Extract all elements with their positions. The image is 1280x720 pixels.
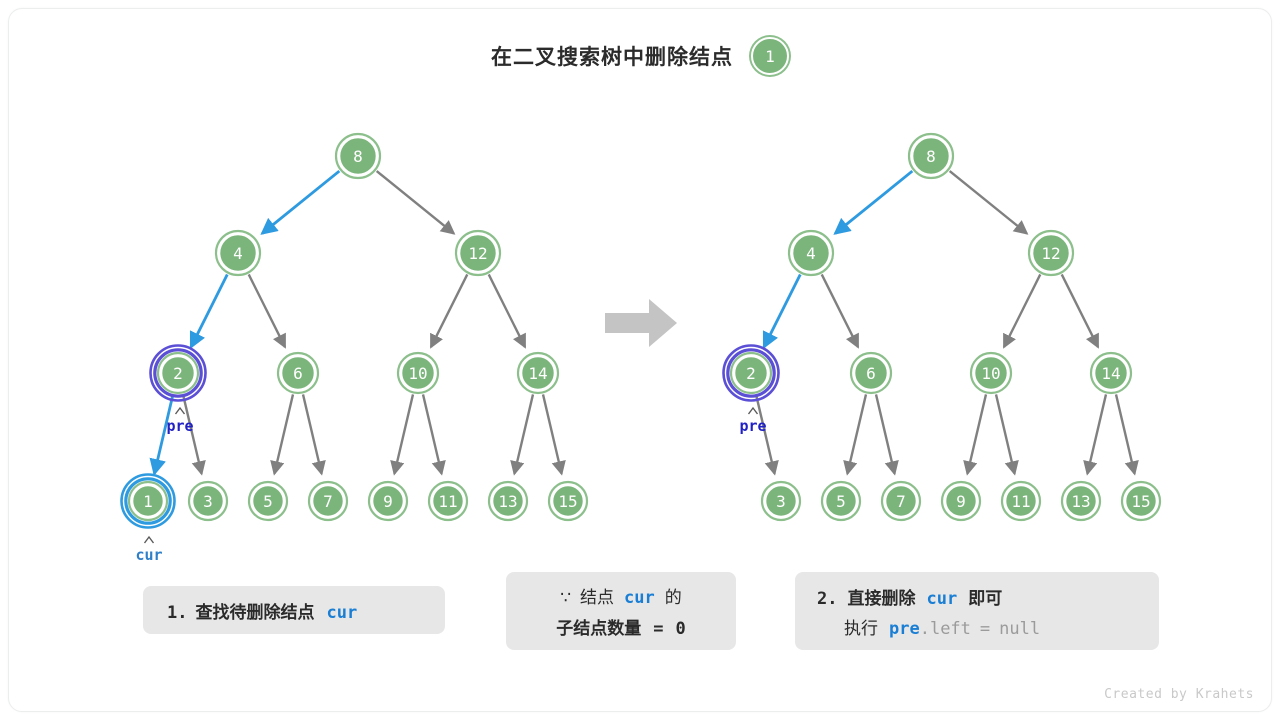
tree-edge-l10-l11 xyxy=(423,394,442,473)
tree-edge-r6-r7 xyxy=(876,394,895,473)
right-arrow-icon xyxy=(605,299,677,347)
tree-edge-r8-r12 xyxy=(950,171,1027,233)
tree-node-14[interactable]: 14 xyxy=(518,353,558,393)
tree-node-10[interactable]: 10 xyxy=(398,353,438,393)
caption-exec-equals: = xyxy=(980,619,990,639)
tree-node-label: 10 xyxy=(981,364,1000,383)
tree-edge-r4-r6 xyxy=(822,274,858,347)
tree-edge-r8-r4 xyxy=(835,171,912,233)
tree-edge-l14-l13 xyxy=(514,394,533,473)
caption-condition-text-1: 结点 xyxy=(580,583,614,608)
tree-node-11[interactable]: 11 xyxy=(1002,482,1040,520)
tree-edge-l10-l9 xyxy=(394,394,413,473)
caption-equals-sign: = xyxy=(653,619,663,639)
caption-child-count-label: 子结点数量 xyxy=(556,614,641,639)
caption-exec-var: pre xyxy=(889,619,920,639)
tree-edge-r10-r11 xyxy=(996,394,1015,473)
tree-node-label: 9 xyxy=(383,492,393,511)
right-tree-nodes: 84122610143579111315 xyxy=(724,134,1161,520)
caption-step-2-line-2: 执行 pre .left = null xyxy=(817,614,1159,639)
tree-edge-r14-r13 xyxy=(1087,394,1106,473)
tree-node-label: 8 xyxy=(353,147,363,166)
tree-node-6[interactable]: 6 xyxy=(851,353,891,393)
caption-step-2: 2. 直接删除 cur 即可 执行 pre .left = null xyxy=(795,572,1159,650)
caption-exec-label: 执行 xyxy=(844,614,878,639)
caption-step-1-line: 1. 查找待删除结点 cur xyxy=(167,598,445,623)
tree-node-label: 4 xyxy=(806,244,816,263)
tree-node-label: 8 xyxy=(926,147,936,166)
tree-edge-l8-l12 xyxy=(377,171,454,233)
caption-step-2-number: 2. xyxy=(817,589,837,609)
pointer-label-cur: cur xyxy=(135,537,162,564)
tree-node-label: 1 xyxy=(143,492,153,511)
caption-condition-text-2: 的 xyxy=(665,583,682,608)
pointer-name-text: pre xyxy=(166,417,193,435)
right-tree-edges xyxy=(756,171,1135,474)
tree-node-5[interactable]: 5 xyxy=(249,482,287,520)
tree-node-8[interactable]: 8 xyxy=(909,134,953,178)
tree-node-label: 14 xyxy=(528,364,547,383)
tree-node-13[interactable]: 13 xyxy=(489,482,527,520)
tree-node-label: 12 xyxy=(468,244,487,263)
diagram-canvas: 在二叉搜索树中删除结点 1 841226101413579111315 8412… xyxy=(0,0,1280,720)
tree-node-14[interactable]: 14 xyxy=(1091,353,1131,393)
tree-node-label: 3 xyxy=(203,492,213,511)
tree-node-11[interactable]: 11 xyxy=(429,482,467,520)
transition-arrow xyxy=(605,299,677,347)
caption-condition-code: cur xyxy=(624,588,655,608)
tree-node-3[interactable]: 3 xyxy=(762,482,800,520)
tree-node-13[interactable]: 13 xyxy=(1062,482,1100,520)
tree-edge-r6-r5 xyxy=(847,394,866,473)
tree-node-label: 13 xyxy=(1071,492,1090,511)
caption-step-1-number: 1. xyxy=(167,603,187,623)
tree-node-9[interactable]: 9 xyxy=(942,482,980,520)
tree-node-8[interactable]: 8 xyxy=(336,134,380,178)
caption-condition-line-2: 子结点数量 = 0 xyxy=(556,614,686,639)
tree-node-label: 2 xyxy=(173,364,183,383)
tree-node-5[interactable]: 5 xyxy=(822,482,860,520)
tree-node-15[interactable]: 15 xyxy=(549,482,587,520)
tree-edge-l6-l5 xyxy=(274,394,293,473)
caption-step-1: 1. 查找待删除结点 cur xyxy=(143,586,445,634)
tree-node-label: 15 xyxy=(558,492,577,511)
because-symbol: ∵ xyxy=(560,588,571,608)
tree-node-7[interactable]: 7 xyxy=(309,482,347,520)
tree-edge-l6-l7 xyxy=(303,394,322,473)
tree-node-7[interactable]: 7 xyxy=(882,482,920,520)
tree-node-label: 7 xyxy=(896,492,906,511)
caption-step-2-tail: 即可 xyxy=(968,584,1002,609)
tree-edge-l4-l6 xyxy=(249,274,285,347)
tree-edge-r14-r15 xyxy=(1116,394,1135,473)
footer-credit: Created by Krahets xyxy=(1104,687,1254,702)
caret-up-icon xyxy=(145,537,154,543)
tree-node-12[interactable]: 12 xyxy=(1029,231,1073,275)
caption-condition: ∵ 结点 cur 的 子结点数量 = 0 xyxy=(506,572,736,650)
tree-node-label: 3 xyxy=(776,492,786,511)
tree-node-10[interactable]: 10 xyxy=(971,353,1011,393)
pointer-name-text: pre xyxy=(739,417,766,435)
caret-up-icon xyxy=(749,408,758,414)
caret-up-icon xyxy=(176,408,185,414)
tree-node-label: 11 xyxy=(438,492,457,511)
tree-node-label: 13 xyxy=(498,492,517,511)
tree-node-3[interactable]: 3 xyxy=(189,482,227,520)
tree-node-label: 6 xyxy=(866,364,876,383)
caption-exec-value: null xyxy=(999,619,1040,639)
caption-step-2-line-1: 2. 直接删除 cur 即可 xyxy=(817,584,1159,609)
tree-node-label: 7 xyxy=(323,492,333,511)
tree-node-4[interactable]: 4 xyxy=(216,231,260,275)
tree-node-label: 10 xyxy=(408,364,427,383)
right-tree-pointers: pre xyxy=(739,408,766,435)
pointer-name-text: cur xyxy=(135,546,162,564)
tree-edge-r12-r14 xyxy=(1062,274,1098,347)
tree-edge-l12-l10 xyxy=(431,274,467,347)
tree-edge-l12-l14 xyxy=(489,274,525,347)
caption-exec-prop: .left xyxy=(920,619,971,639)
tree-node-15[interactable]: 15 xyxy=(1122,482,1160,520)
tree-node-label: 4 xyxy=(233,244,243,263)
tree-edge-l4-l2 xyxy=(191,274,227,347)
pointer-label-pre: pre xyxy=(739,408,766,435)
tree-node-label: 5 xyxy=(836,492,846,511)
tree-node-label: 12 xyxy=(1041,244,1060,263)
tree-node-12[interactable]: 12 xyxy=(456,231,500,275)
tree-edge-r4-r2 xyxy=(764,274,800,347)
left-tree-edges xyxy=(154,171,561,474)
tree-node-label: 2 xyxy=(746,364,756,383)
tree-edge-r12-r10 xyxy=(1004,274,1040,347)
caption-step-1-code: cur xyxy=(326,603,357,623)
pointer-label-pre: pre xyxy=(166,408,193,435)
tree-node-label: 11 xyxy=(1011,492,1030,511)
tree-node-label: 6 xyxy=(293,364,303,383)
caption-step-1-text: 查找待删除结点 xyxy=(195,598,314,623)
caption-child-count-value: 0 xyxy=(676,619,686,639)
caption-condition-line-1: ∵ 结点 cur 的 xyxy=(560,583,682,608)
tree-node-label: 15 xyxy=(1131,492,1150,511)
caption-step-2-text: 直接删除 xyxy=(847,584,915,609)
tree-node-9[interactable]: 9 xyxy=(369,482,407,520)
tree-node-label: 9 xyxy=(956,492,966,511)
tree-edge-l14-l15 xyxy=(543,394,562,473)
tree-edge-l8-l4 xyxy=(262,171,339,233)
tree-node-label: 14 xyxy=(1101,364,1120,383)
tree-node-1[interactable]: 1 xyxy=(122,475,175,528)
tree-node-6[interactable]: 6 xyxy=(278,353,318,393)
caption-step-2-code: cur xyxy=(926,589,957,609)
tree-node-2[interactable]: 2 xyxy=(151,346,206,401)
tree-node-2[interactable]: 2 xyxy=(724,346,779,401)
tree-node-4[interactable]: 4 xyxy=(789,231,833,275)
tree-edge-r10-r9 xyxy=(967,394,986,473)
tree-node-label: 5 xyxy=(263,492,273,511)
